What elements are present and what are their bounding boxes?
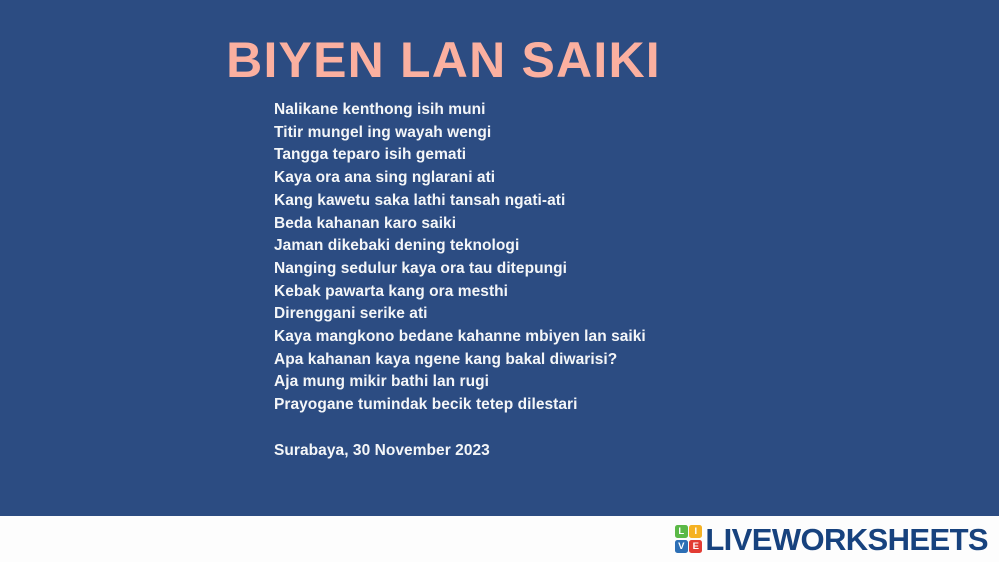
poem-line: Kebak pawarta kang ora mesthi bbox=[274, 281, 834, 304]
tile-letter-e: E bbox=[689, 540, 702, 553]
poem-line: Apa kahanan kaya ngene kang bakal diwari… bbox=[274, 349, 834, 372]
poem-spacer bbox=[274, 417, 834, 440]
poem-line: Jaman dikebaki dening teknologi bbox=[274, 235, 834, 258]
poem-line: Titir mungel ing wayah wengi bbox=[274, 122, 834, 145]
slide-canvas: BIYEN LAN SAIKI Nalikane kenthong isih m… bbox=[0, 0, 999, 516]
poem-line: Beda kahanan karo saiki bbox=[274, 213, 834, 236]
liveworksheets-logo[interactable]: L I V E LIVEWORKSHEETS bbox=[675, 519, 988, 559]
page-footer: L I V E LIVEWORKSHEETS bbox=[0, 516, 999, 562]
slide-title: BIYEN LAN SAIKI bbox=[0, 31, 887, 89]
poem-line: Kang kawetu saka lathi tansah ngati-ati bbox=[274, 190, 834, 213]
tile-letter-i: I bbox=[689, 525, 702, 538]
brand-wordmark: LIVEWORKSHEETS bbox=[705, 524, 988, 555]
poem-line: Kaya ora ana sing nglarani ati bbox=[274, 167, 834, 190]
poem-signature: Surabaya, 30 November 2023 bbox=[274, 440, 834, 463]
tile-letter-v: V bbox=[675, 540, 688, 553]
poem-line: Kaya mangkono bedane kahanne mbiyen lan … bbox=[274, 326, 834, 349]
live-tiles-icon: L I V E bbox=[675, 525, 703, 553]
tile-letter-l: L bbox=[675, 525, 688, 538]
poem-body: Nalikane kenthong isih muni Titir mungel… bbox=[274, 99, 834, 462]
poem-line: Direnggani serike ati bbox=[274, 303, 834, 326]
poem-line: Nalikane kenthong isih muni bbox=[274, 99, 834, 122]
poem-line: Tangga teparo isih gemati bbox=[274, 144, 834, 167]
poem-line: Aja mung mikir bathi lan rugi bbox=[274, 371, 834, 394]
poem-line: Prayogane tumindak becik tetep dilestari bbox=[274, 394, 834, 417]
worksheet-page: BIYEN LAN SAIKI Nalikane kenthong isih m… bbox=[0, 0, 999, 562]
poem-line: Nanging sedulur kaya ora tau ditepungi bbox=[274, 258, 834, 281]
